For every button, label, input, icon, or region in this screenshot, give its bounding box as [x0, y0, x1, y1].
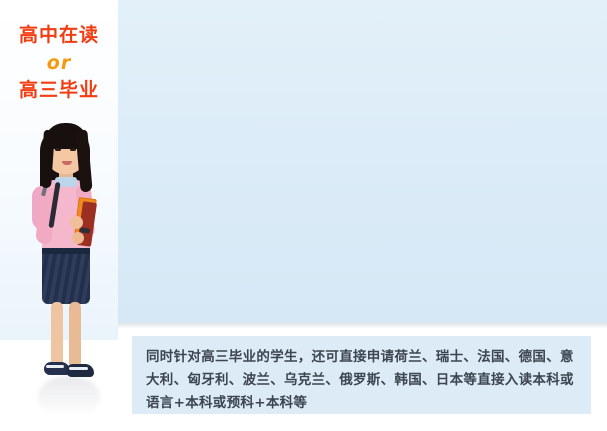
headline-line-2: 高三毕业: [0, 77, 118, 105]
headline-connector: or: [0, 50, 118, 78]
photo-shoe-right-sole: [69, 367, 88, 370]
panel-bottom-shadow: [110, 322, 607, 329]
photo-waistband: [42, 248, 90, 254]
headline-line-1: 高中在读: [0, 22, 118, 50]
main-blue-panel: [110, 0, 607, 322]
headline-block: 高中在读 or 高三毕业: [0, 22, 118, 105]
footnote-panel: 同时针对高三毕业的学生，还可直接申请荷兰、瑞士、法国、德国、意大利、匈牙利、波兰…: [132, 336, 591, 414]
photo-shoe-right: [66, 364, 94, 377]
photo-leg-left: [51, 302, 63, 366]
photo-hand-lower: [72, 232, 84, 244]
footnote-text: 同时针对高三毕业的学生，还可直接申请荷兰、瑞士、法国、德国、意大利、匈牙利、波兰…: [146, 346, 577, 416]
photo-leg-right: [69, 302, 81, 368]
photo-eye-left: [55, 148, 61, 151]
student-photo: [14, 120, 118, 410]
infographic-stage: 高中在读 or 高三毕业: [0, 0, 607, 431]
photo-skirt-texture: [42, 248, 90, 304]
photo-reflection: [38, 376, 100, 416]
photo-shoe-left-sole: [46, 365, 64, 368]
photo-eye-right: [70, 148, 76, 151]
